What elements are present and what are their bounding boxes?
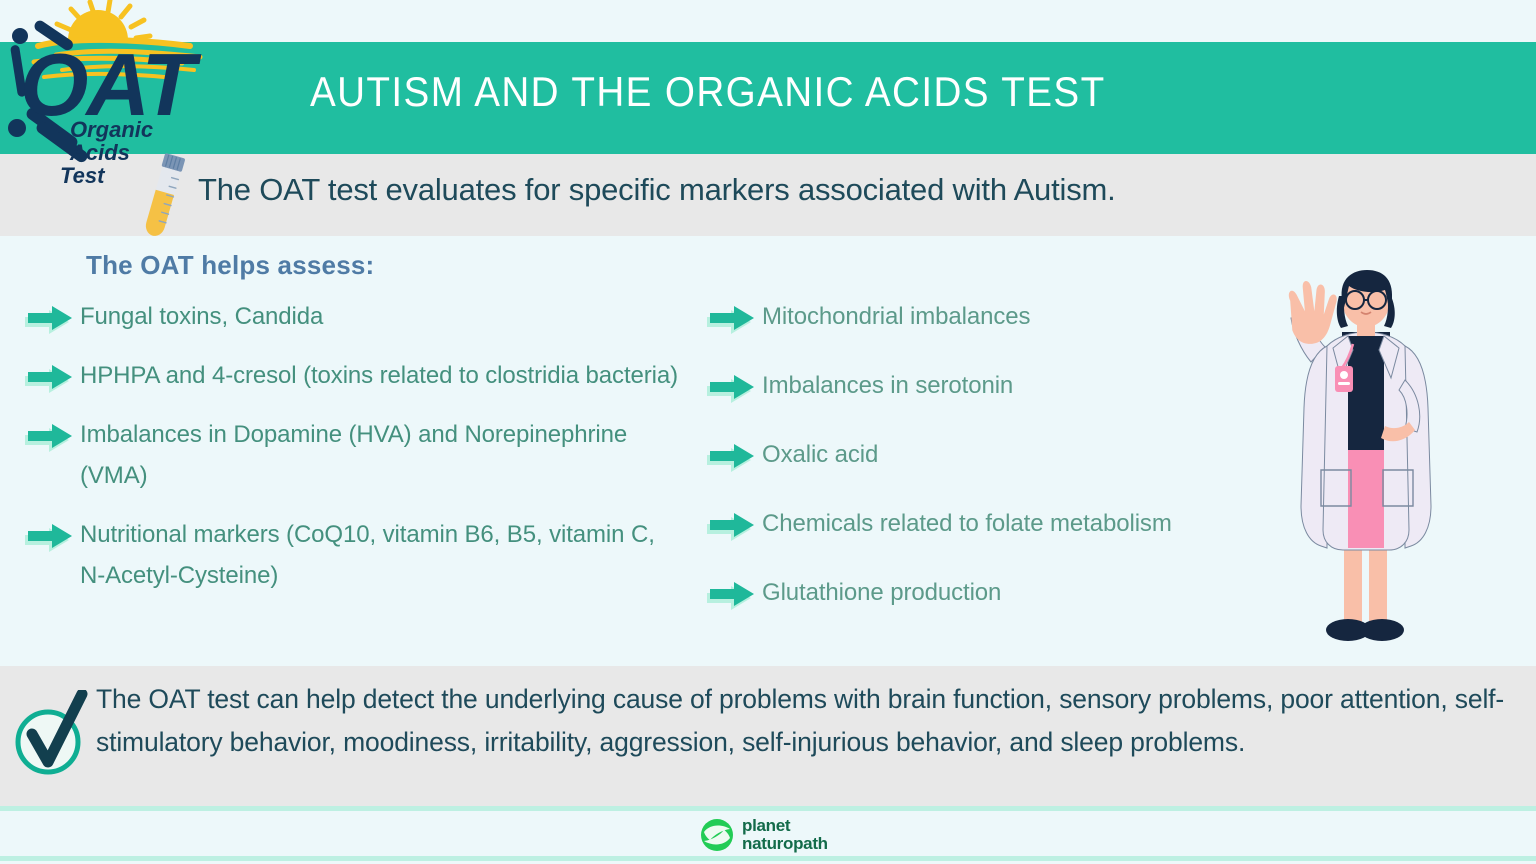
- list-item: Imbalances in Dopamine (HVA) and Norepin…: [24, 414, 684, 496]
- arrow-right-icon: [706, 507, 762, 541]
- arrow-right-icon: [706, 369, 762, 403]
- list-item: Imbalances in serotonin: [706, 365, 1306, 406]
- assess-list-right: Mitochondrial imbalances Imbalances in s…: [706, 296, 1306, 641]
- list-item-label: Chemicals related to folate metabolism: [762, 503, 1172, 544]
- test-tube-icon: [136, 152, 190, 242]
- arrow-right-icon: [706, 576, 762, 610]
- footer-brand[interactable]: planet naturopath: [700, 812, 860, 858]
- list-item: Oxalic acid: [706, 434, 1306, 475]
- waving-hand: [1289, 281, 1337, 344]
- check-circle-icon: [8, 690, 92, 776]
- list-item-label: Oxalic acid: [762, 434, 878, 475]
- arrow-right-icon: [706, 438, 762, 472]
- logo-line2: Acids: [69, 140, 130, 165]
- doctor-waving-illustration: [1249, 270, 1481, 650]
- footer-brand-line2: naturopath: [742, 835, 828, 853]
- list-item-label: Mitochondrial imbalances: [762, 296, 1030, 337]
- list-item: Fungal toxins, Candida: [24, 296, 684, 337]
- infographic-page: OAT Organic Acids Test AUTISM AND THE OR…: [0, 0, 1536, 864]
- leaf-circle-icon: [700, 818, 734, 852]
- list-item: Glutathione production: [706, 572, 1306, 613]
- list-item: Mitochondrial imbalances: [706, 296, 1306, 337]
- logo-line3: Test: [60, 163, 106, 188]
- subtitle-text: The OAT test evaluates for specific mark…: [198, 172, 1116, 208]
- footer-brand-line1: planet: [742, 817, 828, 835]
- assess-list-left: Fungal toxins, Candida HPHPA and 4-creso…: [24, 296, 684, 614]
- list-item: Chemicals related to folate metabolism: [706, 503, 1306, 544]
- list-item-label: Fungal toxins, Candida: [80, 296, 323, 337]
- arrow-right-icon: [24, 418, 80, 452]
- callout-text: The OAT test can help detect the underly…: [96, 678, 1508, 764]
- list-item-label: Imbalances in serotonin: [762, 365, 1013, 406]
- arrow-right-icon: [24, 300, 80, 334]
- logo-line1: Organic: [70, 117, 153, 142]
- arrow-right-icon: [24, 359, 80, 393]
- footer-rule-top: [0, 806, 1536, 811]
- arrow-right-icon: [706, 300, 762, 334]
- list-item-label: Glutathione production: [762, 572, 1001, 613]
- list-item-label: Imbalances in Dopamine (HVA) and Norepin…: [80, 414, 684, 496]
- list-item-label: Nutritional markers (CoQ10, vitamin B6, …: [80, 514, 684, 596]
- footer-brand-text: planet naturopath: [742, 817, 828, 853]
- list-item: Nutritional markers (CoQ10, vitamin B6, …: [24, 514, 684, 596]
- arrow-right-icon: [24, 518, 80, 552]
- assess-heading: The OAT helps assess:: [86, 250, 374, 281]
- list-item-label: HPHPA and 4-cresol (toxins related to cl…: [80, 355, 678, 396]
- page-title: AUTISM AND THE ORGANIC ACIDS TEST: [310, 68, 1230, 116]
- oat-logo: OAT Organic Acids Test: [4, 0, 254, 200]
- list-item: HPHPA and 4-cresol (toxins related to cl…: [24, 355, 684, 396]
